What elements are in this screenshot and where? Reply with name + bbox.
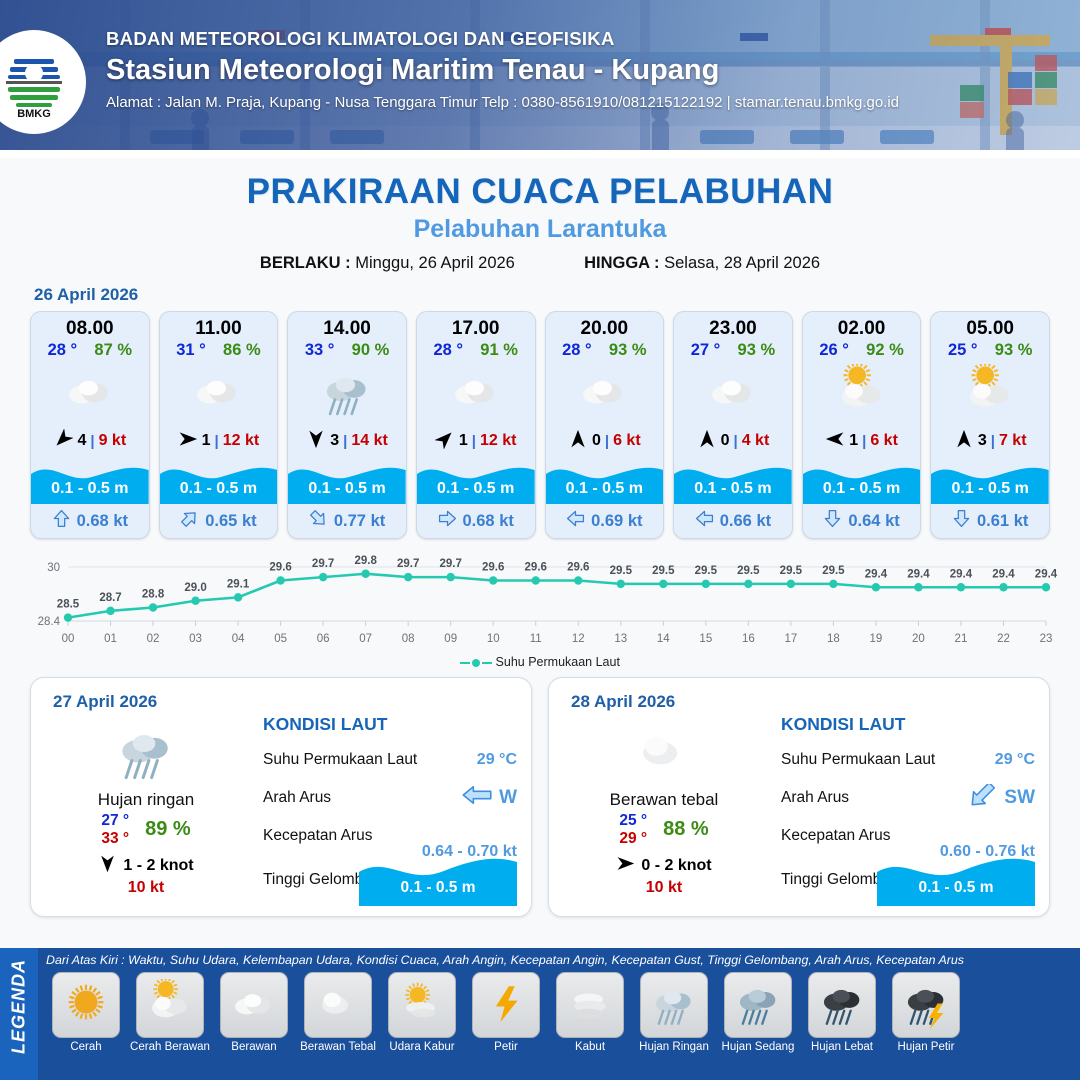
current-arrow-W xyxy=(695,509,714,528)
card-current-row: 0.68 kt xyxy=(417,504,535,538)
current-arrow-N xyxy=(52,509,71,528)
card-humidity: 92 % xyxy=(866,341,904,360)
svg-text:BMKG: BMKG xyxy=(17,108,51,118)
legend-item: Cerah xyxy=(46,972,126,1053)
card-wind-row: 1 | 12 kt xyxy=(417,424,535,458)
current-arrow-S xyxy=(952,509,971,528)
legend-line-icon-2 xyxy=(482,662,492,664)
legend-icon-cerah-berawan xyxy=(136,972,204,1038)
svg-text:29.5: 29.5 xyxy=(652,565,675,577)
sea-row-sst: Suhu Permukaan Laut 29 °C xyxy=(781,741,1035,779)
svg-text:29.5: 29.5 xyxy=(822,565,845,577)
svg-text:15: 15 xyxy=(699,633,712,645)
card-wind-row: 1 | 12 kt xyxy=(160,424,278,458)
summary-temps: 27 ° 33 ° 89 % xyxy=(41,812,251,848)
current-arrow-S xyxy=(823,509,842,528)
card-current-row: 0.69 kt xyxy=(546,504,664,538)
legend-item-label: Hujan Ringan xyxy=(634,1041,714,1053)
svg-text:10: 10 xyxy=(487,633,500,645)
svg-text:29.7: 29.7 xyxy=(440,558,462,570)
berlaku-value: Minggu, 26 April 2026 xyxy=(355,254,515,272)
summary-gust: 10 kt xyxy=(559,879,769,897)
svg-text:08: 08 xyxy=(402,633,415,645)
bmkg-logo-icon: BMKG xyxy=(0,46,70,118)
hingga-label: HINGGA : xyxy=(584,254,659,272)
current-direction-arrow-icon xyxy=(180,509,199,533)
card-humidity: 91 % xyxy=(480,341,518,360)
card-wave-height: 0.1 - 0.5 m xyxy=(931,480,1049,498)
card-current-row: 0.65 kt xyxy=(160,504,278,538)
card-wave-band: 0.1 - 0.5 m xyxy=(417,458,535,504)
card-temperature: 31 ° xyxy=(176,341,206,360)
current-direction-arrow-icon xyxy=(952,509,971,533)
legend-item: Hujan Lebat xyxy=(802,972,882,1053)
sst-value: 29 °C xyxy=(995,751,1035,769)
station-address: Alamat : Jalan M. Praja, Kupang - Nusa T… xyxy=(106,94,1070,111)
forecast-card: 11.00 31 ° 86 % 1 | 12 kt 0.1 - 0.5 m 0.… xyxy=(159,311,279,539)
summary-wave-badge: 0.1 - 0.5 m xyxy=(359,850,517,906)
svg-text:29.6: 29.6 xyxy=(269,562,291,574)
card-temperature: 27 ° xyxy=(691,341,721,360)
legend-item: Berawan Tebal xyxy=(298,972,378,1053)
svg-text:02: 02 xyxy=(147,633,160,645)
card-wind-dir-value: 1 xyxy=(849,432,858,450)
wind-arrow-N xyxy=(697,429,717,449)
card-wave-height: 0.1 - 0.5 m xyxy=(31,480,149,498)
forecast-card: 20.00 28 ° 93 % 0 | 6 kt 0.1 - 0.5 m 0.6… xyxy=(545,311,665,539)
summary-condition: Berawan tebal xyxy=(559,790,769,810)
card-wave-height: 0.1 - 0.5 m xyxy=(160,480,278,498)
page-title: PRAKIRAAN CUACA PELABUHAN xyxy=(0,172,1080,212)
svg-text:20: 20 xyxy=(912,633,925,645)
wind-direction-arrow-icon xyxy=(435,429,455,454)
card-wind-speed: 7 kt xyxy=(999,432,1027,450)
legend-bar: LEGENDA Dari Atas Kiri : Waktu, Suhu Uda… xyxy=(0,948,1080,1080)
wind-arrow-S xyxy=(98,854,117,873)
wind-direction-arrow-icon xyxy=(306,429,326,454)
card-wind-speed: 12 kt xyxy=(223,432,259,450)
card-wave-band: 0.1 - 0.5 m xyxy=(546,458,664,504)
forecast-card: 02.00 26 ° 92 % 1 | 6 kt 0.1 - 0.5 m 0.6… xyxy=(802,311,922,539)
card-wind-speed: 9 kt xyxy=(99,432,127,450)
summary-wind-row: 1 - 2 knot xyxy=(41,854,251,878)
card-weather-icon-berawan xyxy=(546,362,664,424)
card-time: 02.00 xyxy=(803,312,921,340)
legend-item: Cerah Berawan xyxy=(130,972,210,1053)
summary-wave-height: 0.1 - 0.5 m xyxy=(877,879,1035,897)
current-direction-arrow-icon xyxy=(695,509,714,533)
card-humidity: 93 % xyxy=(995,341,1033,360)
card-wind-dir-value: 1 xyxy=(459,432,468,450)
summary-date: 28 April 2026 xyxy=(571,692,675,712)
sst-value: 29 °C xyxy=(477,751,517,769)
card-temp-hum: 28 ° 93 % xyxy=(546,340,664,360)
svg-text:29.7: 29.7 xyxy=(312,558,334,570)
legend-line-icon xyxy=(460,662,470,664)
card-wind-row: 4 | 9 kt xyxy=(31,424,149,458)
summary-left: Berawan tebal 25 ° 29 ° 88 % 0 - 2 knot … xyxy=(559,718,769,897)
svg-text:29.4: 29.4 xyxy=(950,568,973,580)
current-direction-arrow-icon xyxy=(823,509,842,533)
legend-icon-hujan-sedang xyxy=(724,972,792,1038)
summary-wind-range: 1 - 2 knot xyxy=(123,857,193,875)
current-arrow-NE xyxy=(180,509,199,528)
card-wind-dir-value: 0 xyxy=(592,432,601,450)
summary-wind-range: 0 - 2 knot xyxy=(641,857,711,875)
card-humidity: 93 % xyxy=(738,341,776,360)
legend-item-label: Kabut xyxy=(550,1041,630,1053)
card-weather-icon-cerah-berawan xyxy=(931,362,1049,424)
svg-text:30: 30 xyxy=(47,562,60,574)
current-direction-arrow-icon xyxy=(966,784,998,812)
legend-item: Udara Kabur xyxy=(382,972,462,1053)
card-separator: | xyxy=(343,433,347,450)
card-temp-hum: 28 ° 91 % xyxy=(417,340,535,360)
card-wind-speed: 4 kt xyxy=(742,432,770,450)
summary-temp-max: 33 ° xyxy=(101,830,129,848)
card-separator: | xyxy=(90,433,94,450)
svg-text:29.5: 29.5 xyxy=(610,565,633,577)
legend-item-label: Berawan xyxy=(214,1041,294,1053)
card-temperature: 33 ° xyxy=(305,341,335,360)
legend-item-label: Hujan Lebat xyxy=(802,1041,882,1053)
port-name: Pelabuhan Larantuka xyxy=(0,215,1080,244)
svg-text:09: 09 xyxy=(444,633,457,645)
summary-wave-badge: 0.1 - 0.5 m xyxy=(877,850,1035,906)
svg-text:21: 21 xyxy=(955,633,968,645)
summary-wave-height: 0.1 - 0.5 m xyxy=(359,879,517,897)
card-wind-row: 0 | 4 kt xyxy=(674,424,792,458)
legend-icon-berawan-tebal xyxy=(304,972,372,1038)
card-temp-hum: 25 ° 93 % xyxy=(931,340,1049,360)
card-time: 11.00 xyxy=(160,312,278,340)
svg-text:13: 13 xyxy=(614,633,627,645)
header-divider xyxy=(0,150,1080,158)
svg-text:01: 01 xyxy=(104,633,117,645)
wind-direction-arrow-icon xyxy=(616,854,635,878)
summary-humidity: 89 % xyxy=(145,818,191,841)
summary-temp-min: 25 ° xyxy=(619,812,647,830)
card-current-row: 0.64 kt xyxy=(803,504,921,538)
card-time: 05.00 xyxy=(931,312,1049,340)
wind-direction-arrow-icon xyxy=(98,854,117,878)
legend-icon-hujan-petir xyxy=(892,972,960,1038)
wind-arrow-N xyxy=(954,429,974,449)
card-wind-speed: 12 kt xyxy=(480,432,516,450)
card-temp-hum: 28 ° 87 % xyxy=(31,340,149,360)
legend-icon-kabut xyxy=(556,972,624,1038)
card-wave-band: 0.1 - 0.5 m xyxy=(160,458,278,504)
legend-item-label: Hujan Petir xyxy=(886,1041,966,1053)
wind-direction-arrow-icon xyxy=(825,429,845,454)
current-dir-value-wrap: W xyxy=(461,784,517,812)
card-wave-band: 0.1 - 0.5 m xyxy=(31,458,149,504)
legend-side-text: LEGENDA xyxy=(9,957,30,1057)
current-arrow-E xyxy=(438,509,457,528)
card-time: 23.00 xyxy=(674,312,792,340)
station-name: Stasiun Meteorologi Maritim Tenau - Kupa… xyxy=(106,54,1070,87)
svg-text:14: 14 xyxy=(657,633,670,645)
header-text-block: BADAN METEOROLOGI KLIMATOLOGI DAN GEOFIS… xyxy=(106,28,1070,111)
current-direction-arrow-icon xyxy=(52,509,71,533)
card-time: 14.00 xyxy=(288,312,406,340)
summary-wind-row: 0 - 2 knot xyxy=(559,854,769,878)
sst-label: Suhu Permukaan Laut xyxy=(781,751,935,769)
current-dir-value-wrap: SW xyxy=(966,784,1035,812)
sst-label: Suhu Permukaan Laut xyxy=(263,751,417,769)
card-time: 20.00 xyxy=(546,312,664,340)
card-humidity: 86 % xyxy=(223,341,261,360)
daily-summary-row: 27 April 2026 Hujan ringan 27 ° 33 ° 89 … xyxy=(0,669,1080,917)
current-direction-arrow-icon xyxy=(566,509,585,533)
wind-arrow-W xyxy=(825,429,845,449)
hourly-forecast-row: 08.00 28 ° 87 % 4 | 9 kt 0.1 - 0.5 m 0.6… xyxy=(0,311,1080,539)
card-current-row: 0.68 kt xyxy=(31,504,149,538)
card-wave-band: 0.1 - 0.5 m xyxy=(674,458,792,504)
card-current-speed: 0.68 kt xyxy=(77,512,128,531)
current-speed-label: Kecepatan Arus xyxy=(781,827,890,845)
legend-item-label: Udara Kabur xyxy=(382,1041,462,1053)
agency-name: BADAN METEOROLOGI KLIMATOLOGI DAN GEOFIS… xyxy=(106,28,1070,50)
svg-text:17: 17 xyxy=(784,633,797,645)
card-wind-speed: 14 kt xyxy=(351,432,387,450)
svg-text:22: 22 xyxy=(997,633,1010,645)
card-temperature: 28 ° xyxy=(562,341,592,360)
summary-temp-max: 29 ° xyxy=(619,830,647,848)
svg-text:06: 06 xyxy=(317,633,330,645)
forecast-card: 14.00 33 ° 90 % 3 | 14 kt 0.1 - 0.5 m 0.… xyxy=(287,311,407,539)
svg-text:29.8: 29.8 xyxy=(354,555,377,567)
wind-direction-arrow-icon xyxy=(568,429,588,454)
legend-item: Hujan Petir xyxy=(886,972,966,1053)
legend-content: Dari Atas Kiri : Waktu, Suhu Udara, Kele… xyxy=(38,948,1080,1080)
validity-row: BERLAKU : Minggu, 26 April 2026 HINGGA :… xyxy=(0,254,1080,273)
wind-arrow-SW xyxy=(53,429,73,449)
card-separator: | xyxy=(991,433,995,450)
svg-text:04: 04 xyxy=(232,633,245,645)
card-wind-speed: 6 kt xyxy=(870,432,898,450)
card-temp-hum: 33 ° 90 % xyxy=(288,340,406,360)
wind-arrow-E xyxy=(178,429,198,449)
svg-text:12: 12 xyxy=(572,633,585,645)
svg-text:29.6: 29.6 xyxy=(567,562,589,574)
svg-text:19: 19 xyxy=(870,633,883,645)
legend-icon-berawan xyxy=(220,972,288,1038)
svg-text:29.4: 29.4 xyxy=(1035,568,1058,580)
svg-text:29.5: 29.5 xyxy=(780,565,803,577)
card-current-speed: 0.61 kt xyxy=(977,512,1028,531)
sst-chart: 3028.40001020304050607080910111213141516… xyxy=(0,549,1080,659)
card-current-speed: 0.64 kt xyxy=(848,512,899,531)
card-temp-hum: 27 ° 93 % xyxy=(674,340,792,360)
summary-left: Hujan ringan 27 ° 33 ° 89 % 1 - 2 knot 1… xyxy=(41,718,251,897)
svg-text:29.6: 29.6 xyxy=(525,562,547,574)
card-temperature: 26 ° xyxy=(819,341,849,360)
card-weather-icon-berawan xyxy=(417,362,535,424)
card-humidity: 87 % xyxy=(94,341,132,360)
summary-humidity: 88 % xyxy=(663,818,709,841)
card-weather-icon-berawan xyxy=(160,362,278,424)
card-wind-row: 0 | 6 kt xyxy=(546,424,664,458)
current-arrow-W xyxy=(566,509,585,528)
svg-text:00: 00 xyxy=(62,633,75,645)
svg-text:05: 05 xyxy=(274,633,287,645)
card-wind-dir-value: 1 xyxy=(202,432,211,450)
svg-text:29.4: 29.4 xyxy=(992,568,1015,580)
legend-icon-hujan-lebat xyxy=(808,972,876,1038)
card-time: 08.00 xyxy=(31,312,149,340)
wind-direction-arrow-icon xyxy=(697,429,717,454)
title-area: PRAKIRAAN CUACA PELABUHAN Pelabuhan Lara… xyxy=(0,158,1080,273)
card-temp-hum: 26 ° 92 % xyxy=(803,340,921,360)
svg-text:29.4: 29.4 xyxy=(907,568,930,580)
card-temp-hum: 31 ° 86 % xyxy=(160,340,278,360)
wave-shape-icon xyxy=(877,850,1035,906)
forecast-card: 08.00 28 ° 87 % 4 | 9 kt 0.1 - 0.5 m 0.6… xyxy=(30,311,150,539)
card-wind-row: 3 | 14 kt xyxy=(288,424,406,458)
legend-item: Petir xyxy=(466,972,546,1053)
card-current-speed: 0.68 kt xyxy=(463,512,514,531)
card-wave-height: 0.1 - 0.5 m xyxy=(674,480,792,498)
current-dir-label: Arah Arus xyxy=(781,789,849,807)
sea-row-direction: Arah Arus SW xyxy=(781,779,1035,817)
svg-text:16: 16 xyxy=(742,633,755,645)
card-wind-speed: 6 kt xyxy=(613,432,641,450)
current-dir-value: SW xyxy=(1004,787,1035,809)
svg-text:29.5: 29.5 xyxy=(695,565,718,577)
legend-items: Cerah Cerah Berawan Berawan Berawan Teba… xyxy=(46,972,1074,1053)
legend-item: Hujan Sedang xyxy=(718,972,798,1053)
svg-text:29.6: 29.6 xyxy=(482,562,504,574)
sea-conditions-header: KONDISI LAUT xyxy=(781,714,1035,735)
wind-direction-arrow-icon xyxy=(954,429,974,454)
svg-text:11: 11 xyxy=(530,633,542,645)
svg-text:29.5: 29.5 xyxy=(737,565,760,577)
card-wind-dir-value: 3 xyxy=(978,432,987,450)
card-temperature: 28 ° xyxy=(48,341,78,360)
page-header: BMKG BADAN METEOROLOGI KLIMATOLOGI DAN G… xyxy=(0,0,1080,158)
card-wave-band: 0.1 - 0.5 m xyxy=(803,458,921,504)
card-weather-icon-hujan-ringan xyxy=(288,362,406,424)
card-separator: | xyxy=(734,433,738,450)
card-current-speed: 0.77 kt xyxy=(334,512,385,531)
current-dir-label: Arah Arus xyxy=(263,789,331,807)
daily-summary-card: 28 April 2026 Berawan tebal 25 ° 29 ° 88… xyxy=(548,677,1050,917)
card-weather-icon-cerah-berawan xyxy=(803,362,921,424)
legend-item-label: Berawan Tebal xyxy=(298,1041,378,1053)
card-humidity: 93 % xyxy=(609,341,647,360)
svg-text:28.8: 28.8 xyxy=(142,589,165,601)
wind-arrow-E xyxy=(616,854,635,873)
wind-arrow-N xyxy=(568,429,588,449)
legend-icon-hujan-ringan xyxy=(640,972,708,1038)
legend-item: Kabut xyxy=(550,972,630,1053)
current-arrow-W xyxy=(461,784,493,806)
legend-dot-icon xyxy=(472,659,480,667)
forecast-card: 17.00 28 ° 91 % 1 | 12 kt 0.1 - 0.5 m 0.… xyxy=(416,311,536,539)
card-current-speed: 0.69 kt xyxy=(591,512,642,531)
summary-weather-icon-hujan-ringan xyxy=(41,718,251,788)
legend-icon-cerah xyxy=(52,972,120,1038)
legend-item-label: Petir xyxy=(466,1041,546,1053)
svg-text:07: 07 xyxy=(359,633,372,645)
sea-conditions-header: KONDISI LAUT xyxy=(263,714,517,735)
wave-shape-icon xyxy=(359,850,517,906)
current-speed-label: Kecepatan Arus xyxy=(263,827,372,845)
svg-text:03: 03 xyxy=(189,633,202,645)
current-direction-arrow-icon xyxy=(309,509,328,533)
card-current-speed: 0.65 kt xyxy=(205,512,256,531)
card-temperature: 28 ° xyxy=(433,341,463,360)
current-direction-arrow-icon xyxy=(438,509,457,533)
card-wind-dir-value: 4 xyxy=(77,432,86,450)
hingga-value: Selasa, 28 April 2026 xyxy=(664,254,820,272)
card-wind-dir-value: 0 xyxy=(721,432,730,450)
berlaku-label: BERLAKU : xyxy=(260,254,351,272)
daily-summary-card: 27 April 2026 Hujan ringan 27 ° 33 ° 89 … xyxy=(30,677,532,917)
legend-side-label: LEGENDA xyxy=(0,948,38,1080)
forecast-card: 23.00 27 ° 93 % 0 | 4 kt 0.1 - 0.5 m 0.6… xyxy=(673,311,793,539)
card-wave-height: 0.1 - 0.5 m xyxy=(288,480,406,498)
summary-temps: 25 ° 29 ° 88 % xyxy=(559,812,769,848)
card-current-row: 0.66 kt xyxy=(674,504,792,538)
card-humidity: 90 % xyxy=(352,341,390,360)
card-wave-height: 0.1 - 0.5 m xyxy=(546,480,664,498)
wind-arrow-S xyxy=(306,429,326,449)
card-wave-height: 0.1 - 0.5 m xyxy=(803,480,921,498)
card-time: 17.00 xyxy=(417,312,535,340)
sst-chart-svg: 3028.40001020304050607080910111213141516… xyxy=(0,549,1080,659)
summary-weather-icon-berawan-tebal xyxy=(559,718,769,788)
svg-text:28.4: 28.4 xyxy=(38,616,61,628)
current-dir-value: W xyxy=(499,787,517,809)
card-weather-icon-berawan xyxy=(674,362,792,424)
svg-text:29.7: 29.7 xyxy=(397,558,419,570)
card-wave-band: 0.1 - 0.5 m xyxy=(931,458,1049,504)
card-wind-row: 1 | 6 kt xyxy=(803,424,921,458)
legend-icon-udara-kabur xyxy=(388,972,456,1038)
card-wave-height: 0.1 - 0.5 m xyxy=(417,480,535,498)
card-weather-icon-berawan xyxy=(31,362,149,424)
card-separator: | xyxy=(472,433,476,450)
current-arrow-SE xyxy=(309,509,328,528)
wind-arrow-NE xyxy=(435,429,455,449)
summary-temp-min: 27 ° xyxy=(101,812,129,830)
forecast-day-label: 26 April 2026 xyxy=(34,285,1080,305)
card-wave-band: 0.1 - 0.5 m xyxy=(288,458,406,504)
legend-item-label: Cerah xyxy=(46,1041,126,1053)
card-current-row: 0.61 kt xyxy=(931,504,1049,538)
svg-text:29.0: 29.0 xyxy=(184,582,206,594)
current-arrow-SW xyxy=(966,784,998,806)
svg-text:28.5: 28.5 xyxy=(57,599,80,611)
legend-item-label: Hujan Sedang xyxy=(718,1041,798,1053)
legend-icon-petir xyxy=(472,972,540,1038)
svg-text:29.4: 29.4 xyxy=(865,568,888,580)
forecast-card: 05.00 25 ° 93 % 3 | 7 kt 0.1 - 0.5 m 0.6… xyxy=(930,311,1050,539)
wind-direction-arrow-icon xyxy=(53,429,73,454)
summary-condition: Hujan ringan xyxy=(41,790,251,810)
legend-item: Berawan xyxy=(214,972,294,1053)
card-wind-dir-value: 3 xyxy=(330,432,339,450)
sea-row-direction: Arah Arus W xyxy=(263,779,517,817)
card-temperature: 25 ° xyxy=(948,341,978,360)
svg-text:29.1: 29.1 xyxy=(227,578,250,590)
legend-item-label: Cerah Berawan xyxy=(130,1041,210,1053)
card-separator: | xyxy=(215,433,219,450)
wind-direction-arrow-icon xyxy=(178,429,198,454)
card-current-row: 0.77 kt xyxy=(288,504,406,538)
